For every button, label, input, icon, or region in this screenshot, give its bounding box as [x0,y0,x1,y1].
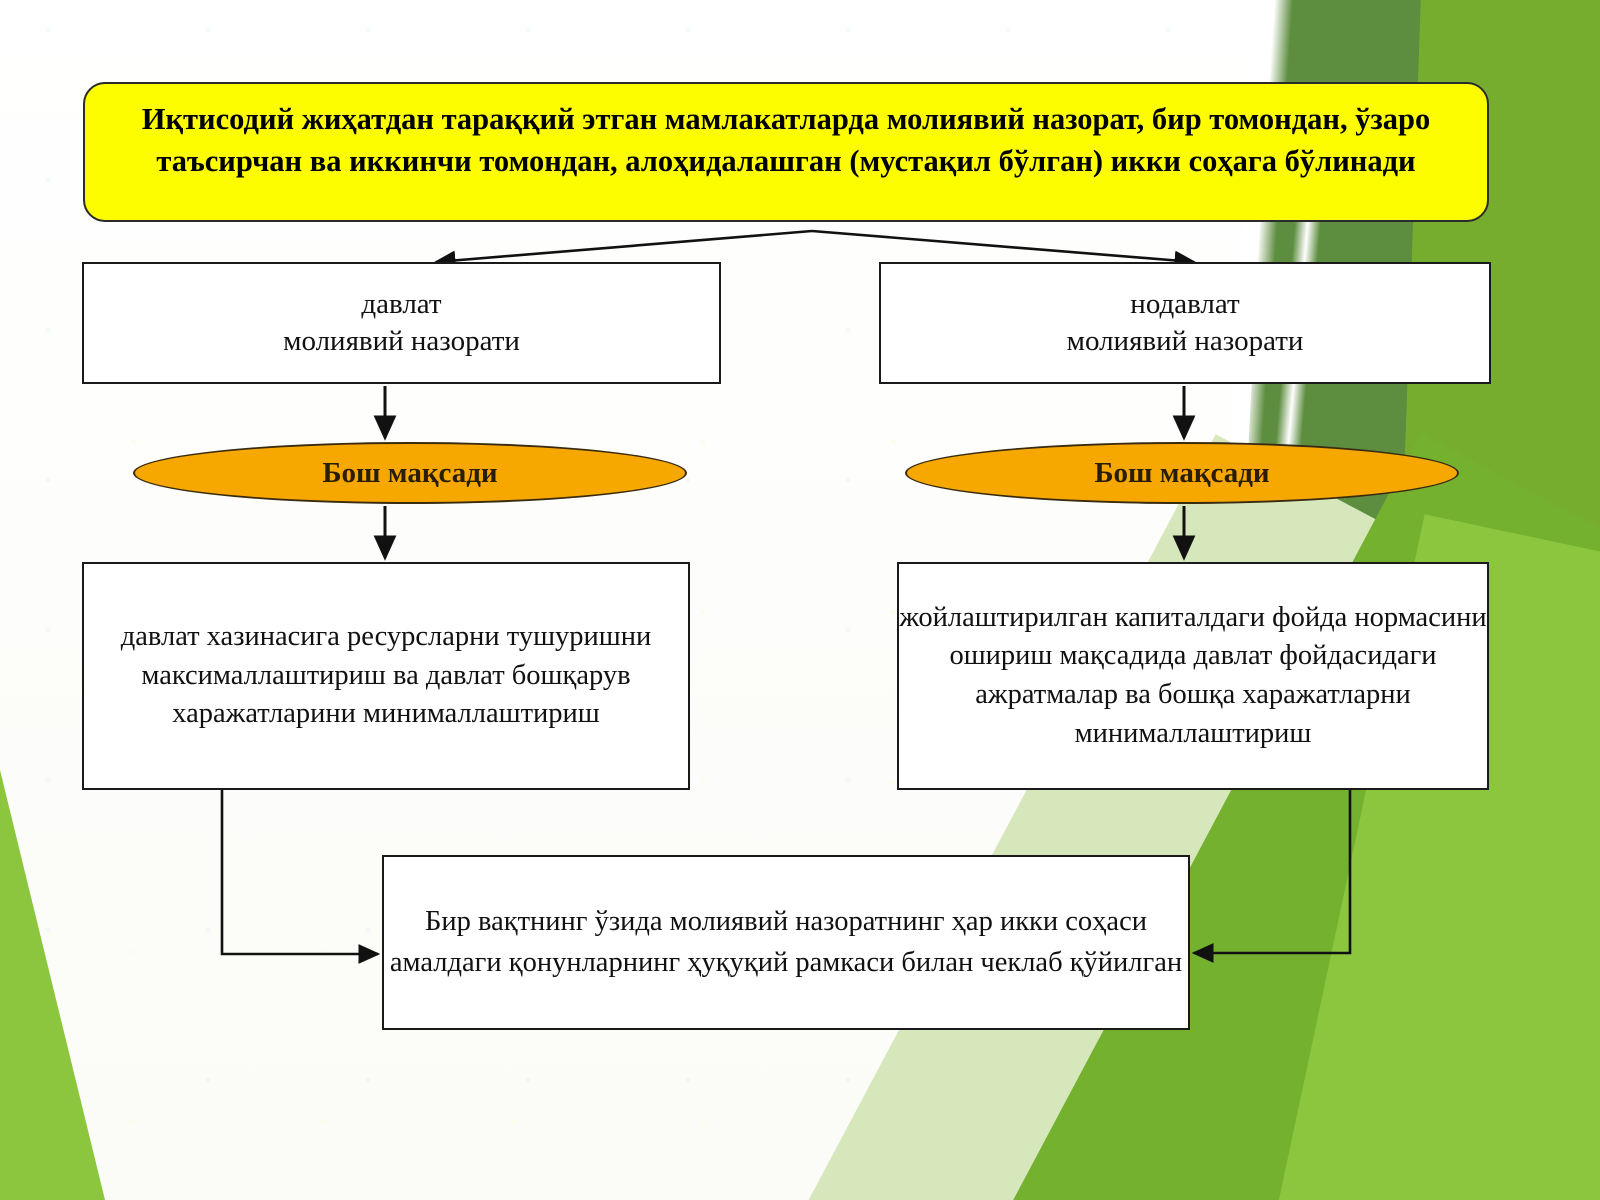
node-joint-legal-framework-note: Бир вақтнинг ўзида молиявий назоратнинг … [382,855,1190,1030]
node-state-title-line1: давлат [283,286,520,323]
node-state-main-goal-ellipse: Бош мақсади [133,442,687,504]
node-state-goal-description: давлат хазинасига ресурсларни тушуришни … [82,562,690,790]
arrow-header-to-state [436,231,812,262]
node-nonstate-main-goal-ellipse: Бош мақсади [905,442,1459,504]
arrow-state-goal-to-joint-note [222,790,378,954]
arrow-header-to-nonstate [812,231,1194,262]
node-nonstate-goal-description: жойлаштирилган капиталдаги фойда нормаси… [897,562,1489,790]
node-nonstate-title-line2: молиявий назорати [1067,323,1304,360]
diagram-header-banner: Иқтисодий жиҳатдан тараққий этган мамлак… [83,82,1489,222]
flow-diagram: Иқтисодий жиҳатдан тараққий этган мамлак… [0,0,1600,1200]
slide-canvas: Иқтисодий жиҳатдан тараққий этган мамлак… [0,0,1600,1200]
arrow-nonstate-goal-to-joint-note [1194,790,1350,953]
node-state-title-line2: молиявий назорати [283,323,520,360]
node-nonstate-financial-control: нодавлат молиявий назорати [879,262,1491,384]
node-nonstate-title-line1: нодавлат [1067,286,1304,323]
node-state-financial-control: давлат молиявий назорати [82,262,721,384]
